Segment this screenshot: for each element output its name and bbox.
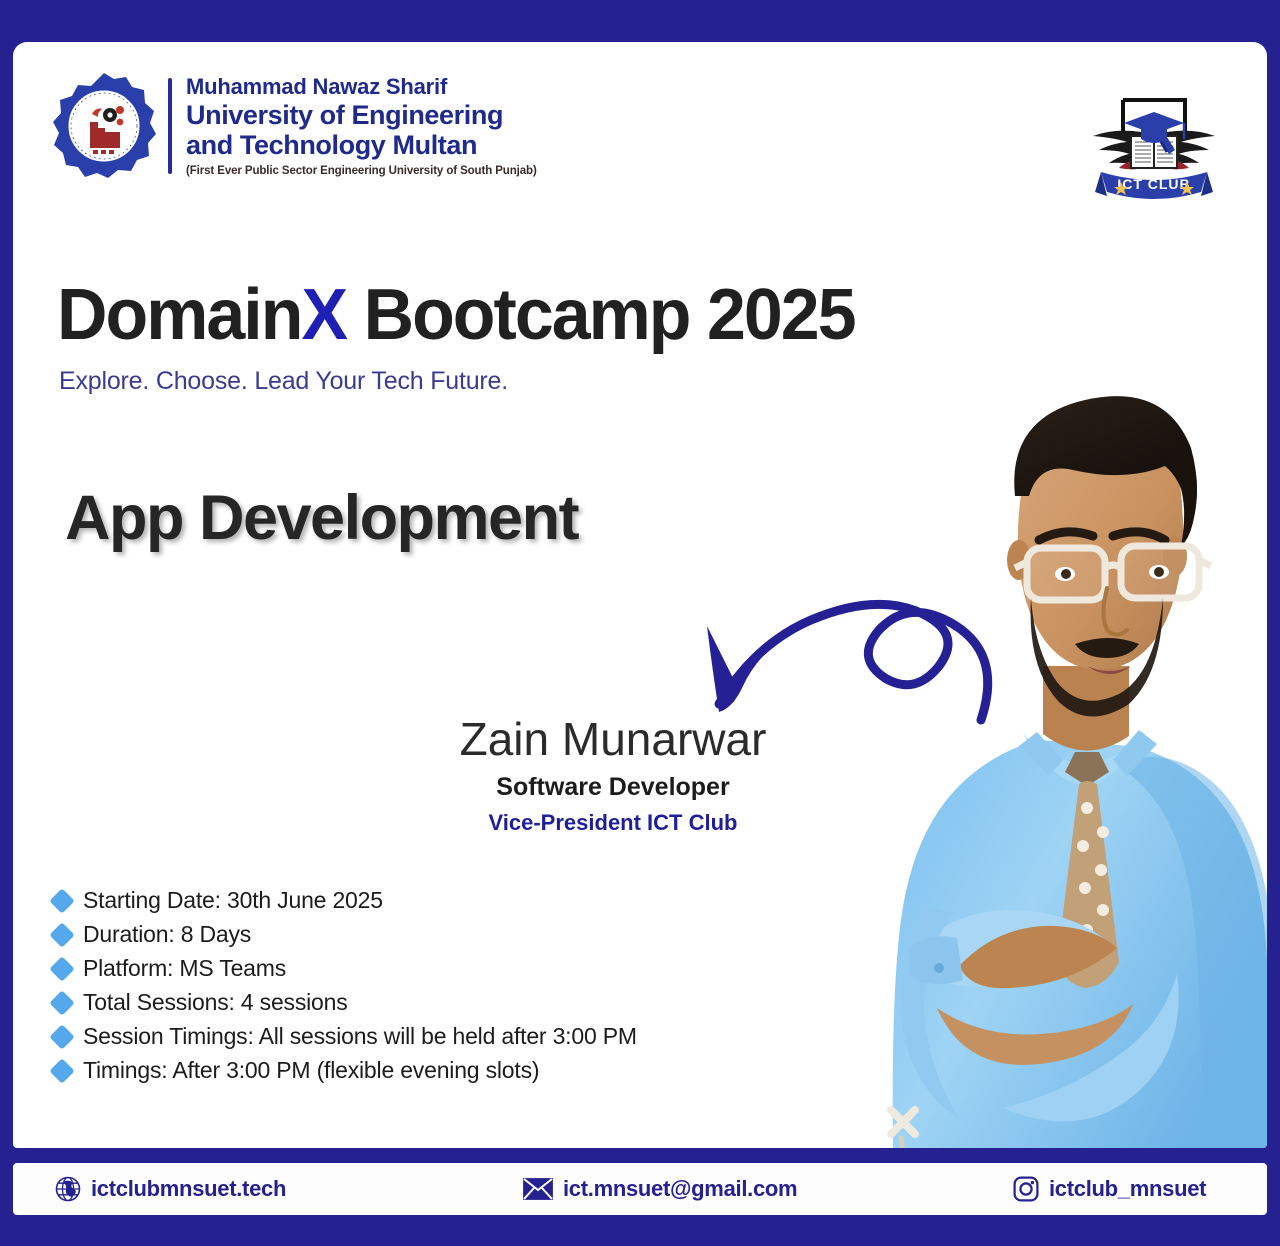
list-item: Platform: MS Teams bbox=[53, 955, 783, 982]
list-item: Starting Date: 30th June 2025 bbox=[53, 887, 783, 914]
speaker-block: Zain Munarwar Software Developer Vice-Pr… bbox=[263, 714, 963, 836]
detail-text: Duration: 8 Days bbox=[83, 921, 251, 948]
event-details-list: Starting Date: 30th June 2025 Duration: … bbox=[53, 887, 783, 1091]
diamond-bullet-icon bbox=[49, 1024, 74, 1049]
domain-heading: App Development bbox=[65, 482, 578, 554]
diamond-bullet-icon bbox=[49, 888, 74, 913]
list-item: Duration: 8 Days bbox=[53, 921, 783, 948]
footer-email-link[interactable]: ict.mnsuet@gmail.com bbox=[523, 1176, 797, 1202]
list-item: Total Sessions: 4 sessions bbox=[53, 989, 783, 1016]
globe-icon bbox=[55, 1176, 81, 1202]
title-prefix: Domain bbox=[57, 275, 301, 355]
detail-text: Session Timings: All sessions will be he… bbox=[83, 1023, 637, 1050]
speaker-role: Software Developer bbox=[263, 773, 963, 802]
footer-instagram-label: ictclub_mnsuet bbox=[1049, 1176, 1206, 1202]
footer-email-label: ict.mnsuet@gmail.com bbox=[563, 1176, 797, 1202]
speaker-name: Zain Munarwar bbox=[263, 714, 963, 765]
detail-text: Platform: MS Teams bbox=[83, 955, 286, 982]
university-line-3: and Technology Multan bbox=[186, 130, 537, 160]
diamond-bullet-icon bbox=[49, 922, 74, 947]
poster-card: Muhammad Nawaz Sharif University of Engi… bbox=[13, 42, 1267, 1148]
detail-text: Timings: After 3:00 PM (flexible evening… bbox=[83, 1057, 539, 1084]
diamond-bullet-icon bbox=[49, 956, 74, 981]
university-line-2: University of Engineering bbox=[186, 100, 537, 130]
page-tagline: Explore. Choose. Lead Your Tech Future. bbox=[59, 367, 508, 396]
instagram-icon bbox=[1013, 1176, 1039, 1202]
detail-text: Starting Date: 30th June 2025 bbox=[83, 887, 383, 914]
university-crest-icon bbox=[48, 70, 160, 182]
logo-divider bbox=[168, 78, 172, 174]
poster-header: Muhammad Nawaz Sharif University of Engi… bbox=[13, 42, 1267, 202]
curved-loop-arrow-icon bbox=[681, 590, 1011, 730]
list-item: Timings: After 3:00 PM (flexible evening… bbox=[53, 1057, 783, 1084]
list-item: Session Timings: All sessions will be he… bbox=[53, 1023, 783, 1050]
ict-club-ribbon-text: ICT CLUB bbox=[1117, 176, 1190, 192]
university-line-1: Muhammad Nawaz Sharif bbox=[186, 75, 537, 100]
page-title: DomainX Bootcamp 2025 bbox=[57, 274, 855, 356]
contact-footer-bar: ictclubmnsuet.tech ict.mnsuet@gmail.com bbox=[13, 1163, 1267, 1215]
university-name-block: Muhammad Nawaz Sharif University of Engi… bbox=[186, 75, 537, 176]
envelope-icon bbox=[523, 1178, 553, 1200]
poster-root: Muhammad Nawaz Sharif University of Engi… bbox=[0, 0, 1280, 1246]
university-logo-block: Muhammad Nawaz Sharif University of Engi… bbox=[48, 70, 537, 182]
title-accent-x: X bbox=[301, 275, 346, 355]
diamond-bullet-icon bbox=[49, 990, 74, 1015]
detail-text: Total Sessions: 4 sessions bbox=[83, 989, 348, 1016]
university-tagline: (First Ever Public Sector Engineering Un… bbox=[186, 165, 537, 177]
footer-website-link[interactable]: ictclubmnsuet.tech bbox=[55, 1176, 286, 1202]
ict-club-logo-icon: ICT CLUB bbox=[1079, 94, 1229, 206]
footer-instagram-link[interactable]: ictclub_mnsuet bbox=[1013, 1176, 1206, 1202]
title-suffix: Bootcamp 2025 bbox=[346, 275, 854, 355]
footer-website-label: ictclubmnsuet.tech bbox=[91, 1176, 286, 1202]
speaker-club-title: Vice-President ICT Club bbox=[263, 810, 963, 836]
white-x-object-icon bbox=[881, 1100, 925, 1148]
diamond-bullet-icon bbox=[49, 1058, 74, 1083]
